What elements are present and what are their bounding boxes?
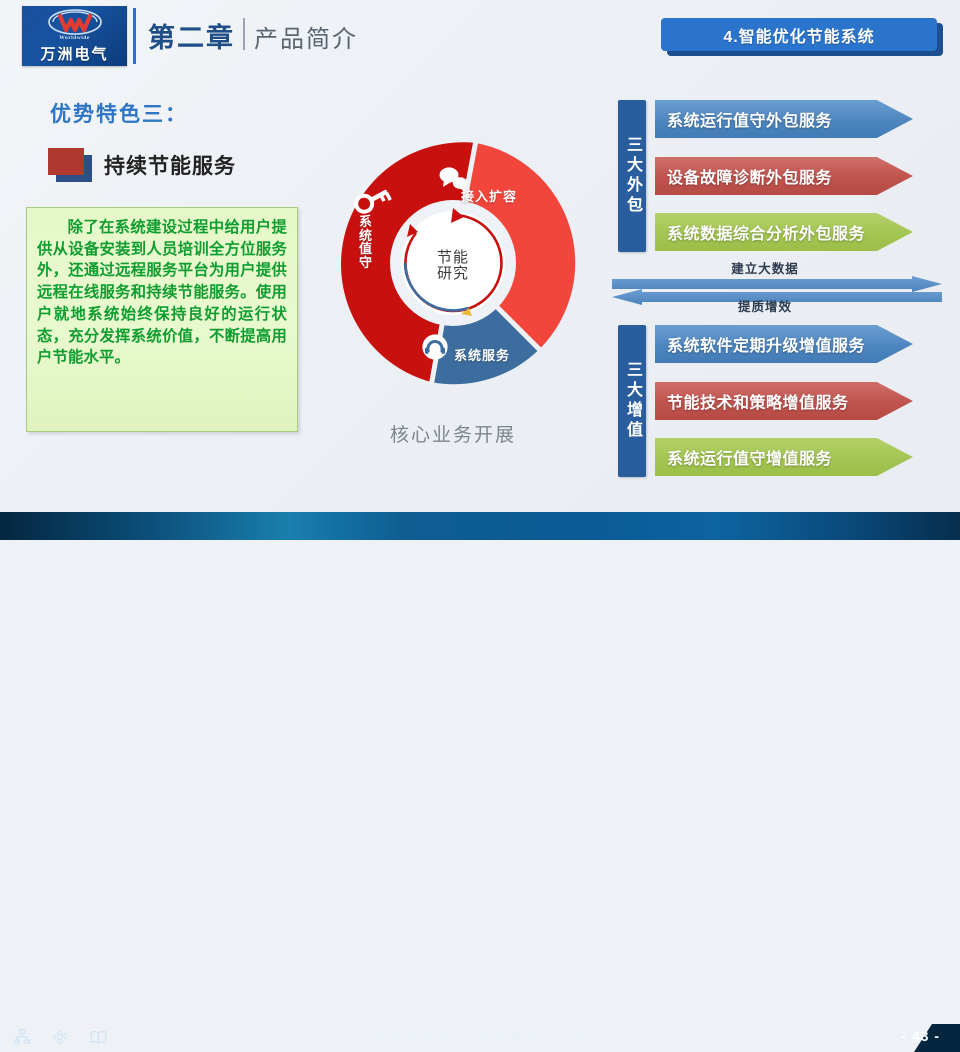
outsourcing-item-2[interactable]: 设备故障诊断外包服务 <box>655 157 913 195</box>
section-title-banner: 4.智能优化节能系统 <box>661 18 943 56</box>
valueadd-item-2[interactable]: 节能技术和策略增值服务 <box>655 382 913 420</box>
description-callout-box: 除了在系统建设过程中给用户提供从设备安装到人员培训全方位服务外，还通过远程服务平… <box>26 207 298 432</box>
chapter-title: 第二章 <box>148 16 235 55</box>
group-label-outsourcing: 三大外包 <box>618 100 646 252</box>
w-crown-logo-icon <box>47 9 103 35</box>
chapter-subtitle: 产品简介 <box>254 19 358 54</box>
slide-header: Worldwide 万洲电气 第二章 产品简介 4.智能优化节能系统 <box>0 0 960 72</box>
gear-icon[interactable] <box>52 1029 68 1045</box>
donut-center-line2: 研究 <box>413 266 493 282</box>
header-accent-divider <box>133 8 136 64</box>
headset-icon <box>422 334 447 359</box>
description-text: 除了在系统建设过程中给用户提供从设备安装到人员培训全方位服务外，还通过远程服务平… <box>37 217 287 369</box>
footer-slogan-left: 致力全面系统节能 <box>330 1032 450 1047</box>
footer-slogan-right: 服务能管中心建设 <box>479 1032 599 1047</box>
feature-bullet-icon <box>48 148 92 182</box>
mid-arrow-left-label: 提质增效 <box>615 296 915 315</box>
sitemap-icon[interactable] <box>14 1029 30 1045</box>
book-icon[interactable] <box>90 1030 107 1045</box>
logo-brand-en: Worldwide <box>59 35 89 41</box>
slide-footer: 致力全面系统节能 服务能管中心建设 - 43 - <box>0 512 960 540</box>
feature-label: 持续节能服务 <box>104 150 236 180</box>
page-number: - 43 - <box>901 1028 940 1044</box>
donut-center-line1: 节能 <box>413 250 493 266</box>
outsourcing-item-1[interactable]: 系统运行值守外包服务 <box>655 100 913 138</box>
footer-slogan: 致力全面系统节能 服务能管中心建设 <box>330 1029 599 1048</box>
donut-label-duty: 系统值守 <box>358 215 374 270</box>
donut-caption: 核心业务开展 <box>328 420 578 447</box>
group-label-valueadd: 三大增值 <box>618 325 646 477</box>
header-title-separator <box>243 18 245 50</box>
logo-brand-cn: 万洲电气 <box>40 43 108 64</box>
advantage-title: 优势特色三： <box>50 98 188 128</box>
mid-arrow-right-label: 建立大数据 <box>615 258 915 277</box>
feature-heading-row: 持续节能服务 <box>48 148 236 182</box>
donut-label-service: 系统服务 <box>454 345 510 364</box>
group-label-outsourcing-text: 三大外包 <box>620 136 644 216</box>
company-logo: Worldwide 万洲电气 <box>22 6 127 66</box>
valueadd-item-1[interactable]: 系统软件定期升级增值服务 <box>655 325 913 363</box>
group-label-valueadd-text: 三大增值 <box>620 361 644 441</box>
donut-center-text: 节能 研究 <box>413 250 493 282</box>
donut-label-access: 接入扩容 <box>461 186 517 205</box>
feature-bullet-square <box>48 148 84 175</box>
valueadd-item-3[interactable]: 系统运行值守增值服务 <box>655 438 913 476</box>
section-title-label: 4.智能优化节能系统 <box>661 18 937 51</box>
slide-canvas: Worldwide 万洲电气 第二章 产品简介 4.智能优化节能系统 优势特色三… <box>0 0 960 540</box>
outsourcing-item-3[interactable]: 系统数据综合分析外包服务 <box>655 213 913 251</box>
big-data-arrow-right <box>612 276 942 292</box>
footer-icon-group <box>14 1029 107 1045</box>
